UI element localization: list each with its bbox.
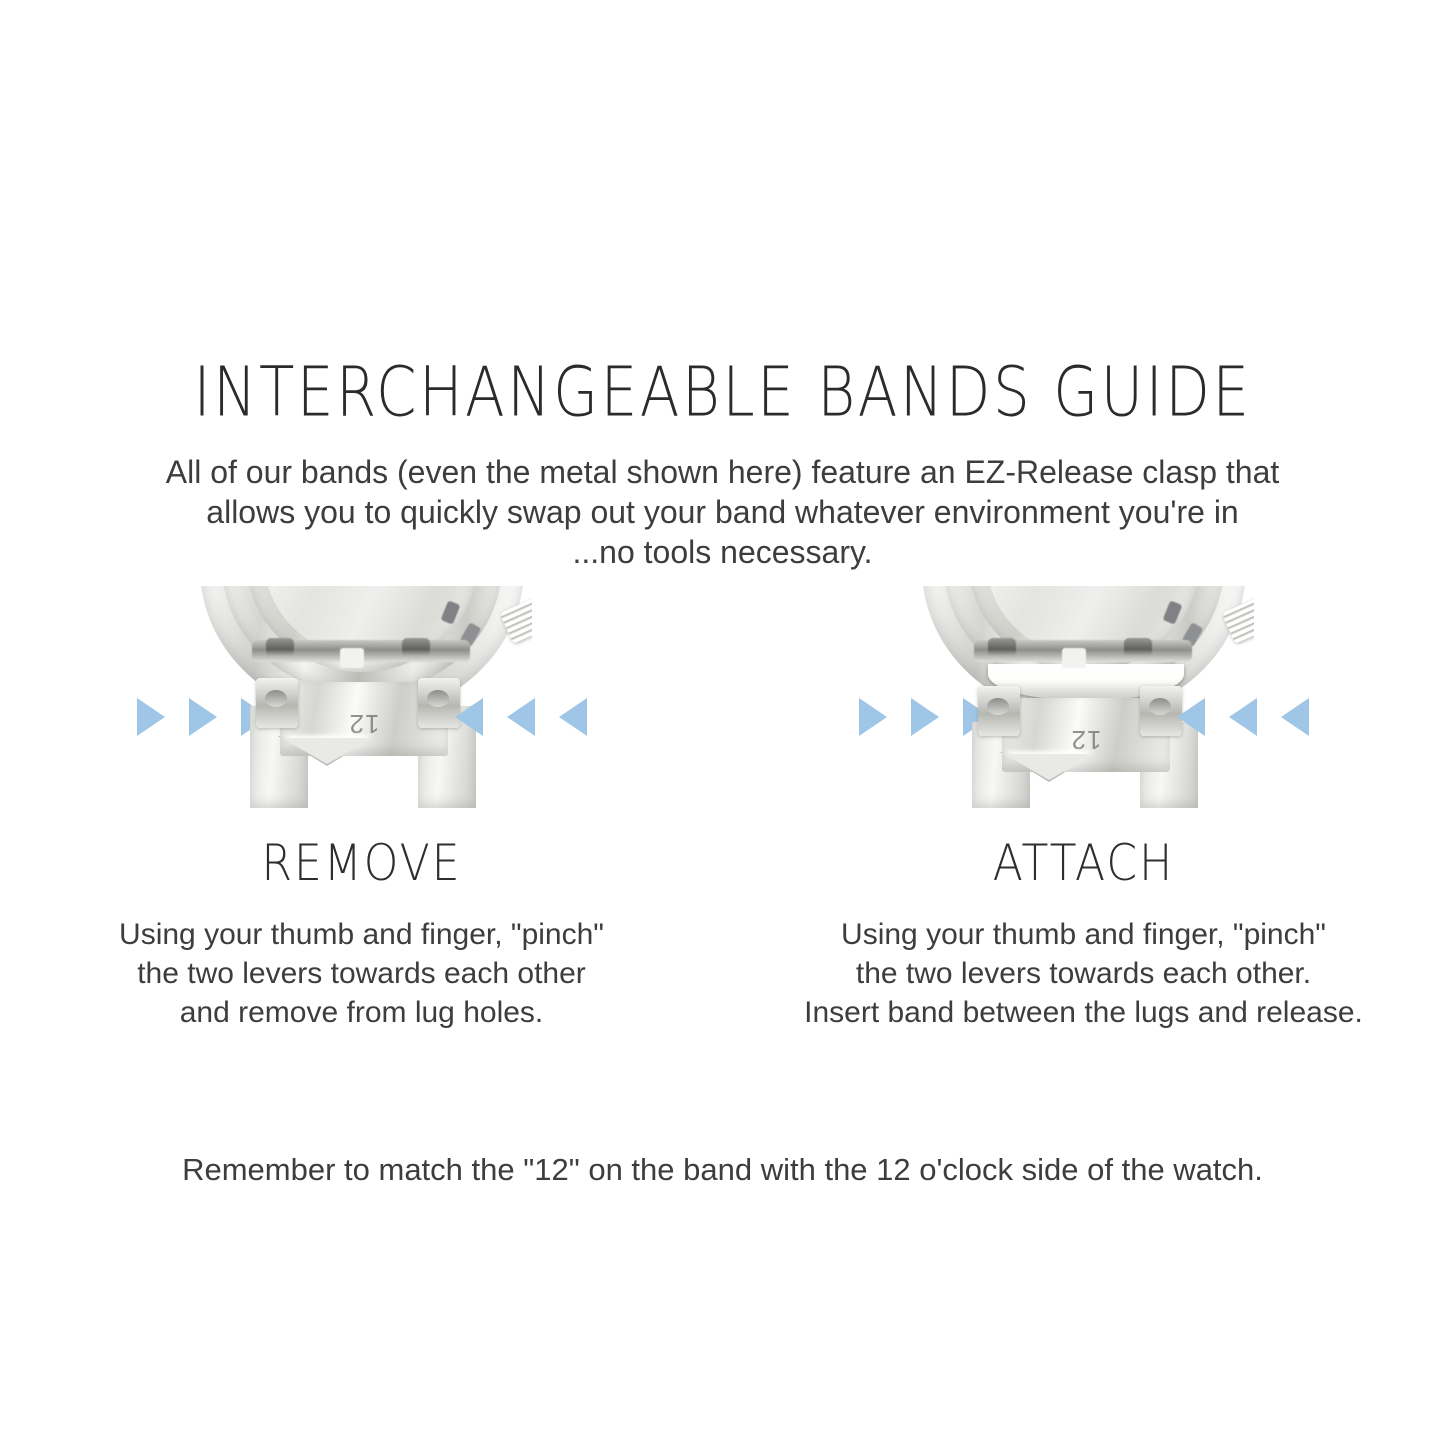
step-panel-attach: 12 ATTACH Using your thumb and finger, "… <box>723 586 1445 1032</box>
watch-illustration: 12 <box>192 586 532 808</box>
caption-line-1: Using your thumb and finger, "pinch" <box>804 915 1363 954</box>
watch-illustration: 12 <box>914 586 1254 808</box>
step-heading-attach: ATTACH <box>993 834 1174 892</box>
release-lever-left <box>978 686 1020 736</box>
caption-line-2: the two levers towards each other. <box>804 954 1363 993</box>
caption-line-1: Using your thumb and finger, "pinch" <box>119 915 604 954</box>
arrow-right-icon <box>859 698 887 736</box>
band-twelve-marking: 12 <box>348 708 379 739</box>
infographic-page: INTERCHANGEABLE BANDS GUIDE All of our b… <box>0 0 1445 1445</box>
page-title: INTERCHANGEABLE BANDS GUIDE <box>0 352 1445 432</box>
caption-line-3: Insert band between the lugs and release… <box>804 993 1363 1032</box>
release-lever-left <box>256 678 298 728</box>
arrow-left-icon <box>1177 698 1205 736</box>
arrow-left-icon <box>1281 698 1309 736</box>
band-chevron <box>282 738 372 764</box>
remove-figure: 12 <box>127 586 597 808</box>
caption-line-3: and remove from lug holes. <box>119 993 604 1032</box>
arrow-left-icon <box>507 698 535 736</box>
arrow-left-icon <box>559 698 587 736</box>
step-caption-attach: Using your thumb and finger, "pinch" the… <box>804 915 1363 1032</box>
lug-screw <box>266 638 294 657</box>
intro-paragraph: All of our bands (even the metal shown h… <box>113 452 1333 572</box>
step-caption-remove: Using your thumb and finger, "pinch" the… <box>119 915 604 1032</box>
lug-center <box>340 648 364 668</box>
caption-line-2: the two levers towards each other <box>119 954 604 993</box>
arrow-right-icon <box>137 698 165 736</box>
lug-screw <box>402 638 430 657</box>
attach-figure: 12 <box>849 586 1319 808</box>
step-heading-remove: REMOVE <box>261 834 461 892</box>
arrow-left-icon <box>455 698 483 736</box>
step-panel-remove: 12 REMOVE Using your thumb and finger, "… <box>1 586 723 1032</box>
intro-line-3: ...no tools necessary. <box>113 532 1333 572</box>
watch-photo-attach: 12 <box>914 586 1254 808</box>
band-chevron <box>1004 754 1094 780</box>
release-lever-right <box>418 678 460 728</box>
release-lever-right <box>1140 686 1182 736</box>
steps-container: 12 REMOVE Using your thumb and finger, "… <box>0 586 1445 1032</box>
intro-line-2: allows you to quickly swap out your band… <box>113 492 1333 532</box>
intro-line-1: All of our bands (even the metal shown h… <box>113 452 1333 492</box>
lug-screw <box>1124 638 1152 657</box>
watch-photo-remove: 12 <box>192 586 532 808</box>
arrow-left-icon <box>1229 698 1257 736</box>
lug-screw <box>988 638 1016 657</box>
lug-center <box>1062 648 1086 668</box>
band-twelve-marking: 12 <box>1070 724 1101 755</box>
footer-note: Remember to match the "12" on the band w… <box>0 1152 1445 1188</box>
